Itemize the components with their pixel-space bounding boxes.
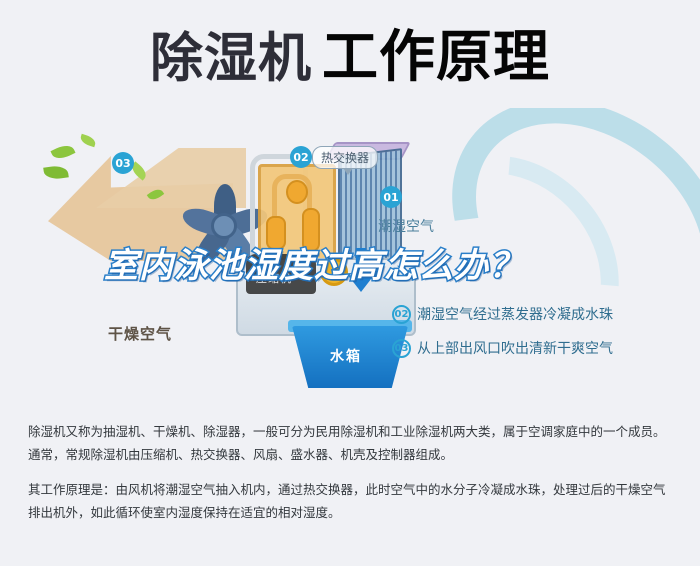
description-paragraph-2: 其工作原理是：由风机将潮湿空气抽入机内，通过热交换器，此时空气中的水分子冷凝成水…: [28, 478, 672, 524]
diagram-badge-02: 02: [290, 146, 312, 168]
humid-air-label: 潮湿空气: [378, 216, 434, 236]
overlay-headline: 室内泳池湿度过高怎么办？: [104, 248, 624, 285]
leaf-icon: [43, 164, 69, 180]
page-title-part2: 工作原理: [322, 30, 550, 86]
leaf-icon: [50, 142, 75, 162]
infographic-page: 除湿机 工作原理 干燥空气 压缩机: [0, 0, 700, 566]
page-title-part1: 除湿机: [150, 32, 312, 85]
description-paragraph-1: 除湿机又称为抽湿机、干燥机、除湿器，一般可分为民用除湿机和工业除湿机两大类，属于…: [28, 420, 672, 466]
water-tank-label: 水箱: [330, 346, 362, 366]
page-title: 除湿机 工作原理: [0, 18, 700, 98]
step-text-03: 从上部出风口吹出清新干爽空气: [417, 338, 613, 358]
step-list: 02 潮湿空气经过蒸发器冷凝成水珠 03 从上部出风口吹出清新干爽空气: [392, 304, 692, 372]
dry-air-label: 干燥空气: [108, 323, 172, 344]
fan-hub: [211, 213, 237, 239]
step-badge-02: 02: [392, 305, 411, 324]
diagram-badge-03: 03: [112, 152, 134, 174]
list-item: 02 潮湿空气经过蒸发器冷凝成水珠: [392, 304, 692, 324]
coil-drum: [286, 180, 308, 204]
diagram-badge-01: 01: [380, 186, 402, 208]
heat-exchanger-callout: 热交换器: [312, 146, 378, 169]
overlay-headline-text: 室内泳池湿度过高怎么办？: [104, 246, 524, 286]
leaf-icon: [79, 134, 97, 148]
step-badge-03: 03: [392, 339, 411, 358]
description-section: 除湿机又称为抽湿机、干燥机、除湿器，一般可分为民用除湿机和工业除湿机两大类，属于…: [0, 398, 700, 566]
coil-drum: [266, 216, 286, 250]
step-text-02: 潮湿空气经过蒸发器冷凝成水珠: [417, 304, 613, 324]
list-item: 03 从上部出风口吹出清新干爽空气: [392, 338, 692, 358]
